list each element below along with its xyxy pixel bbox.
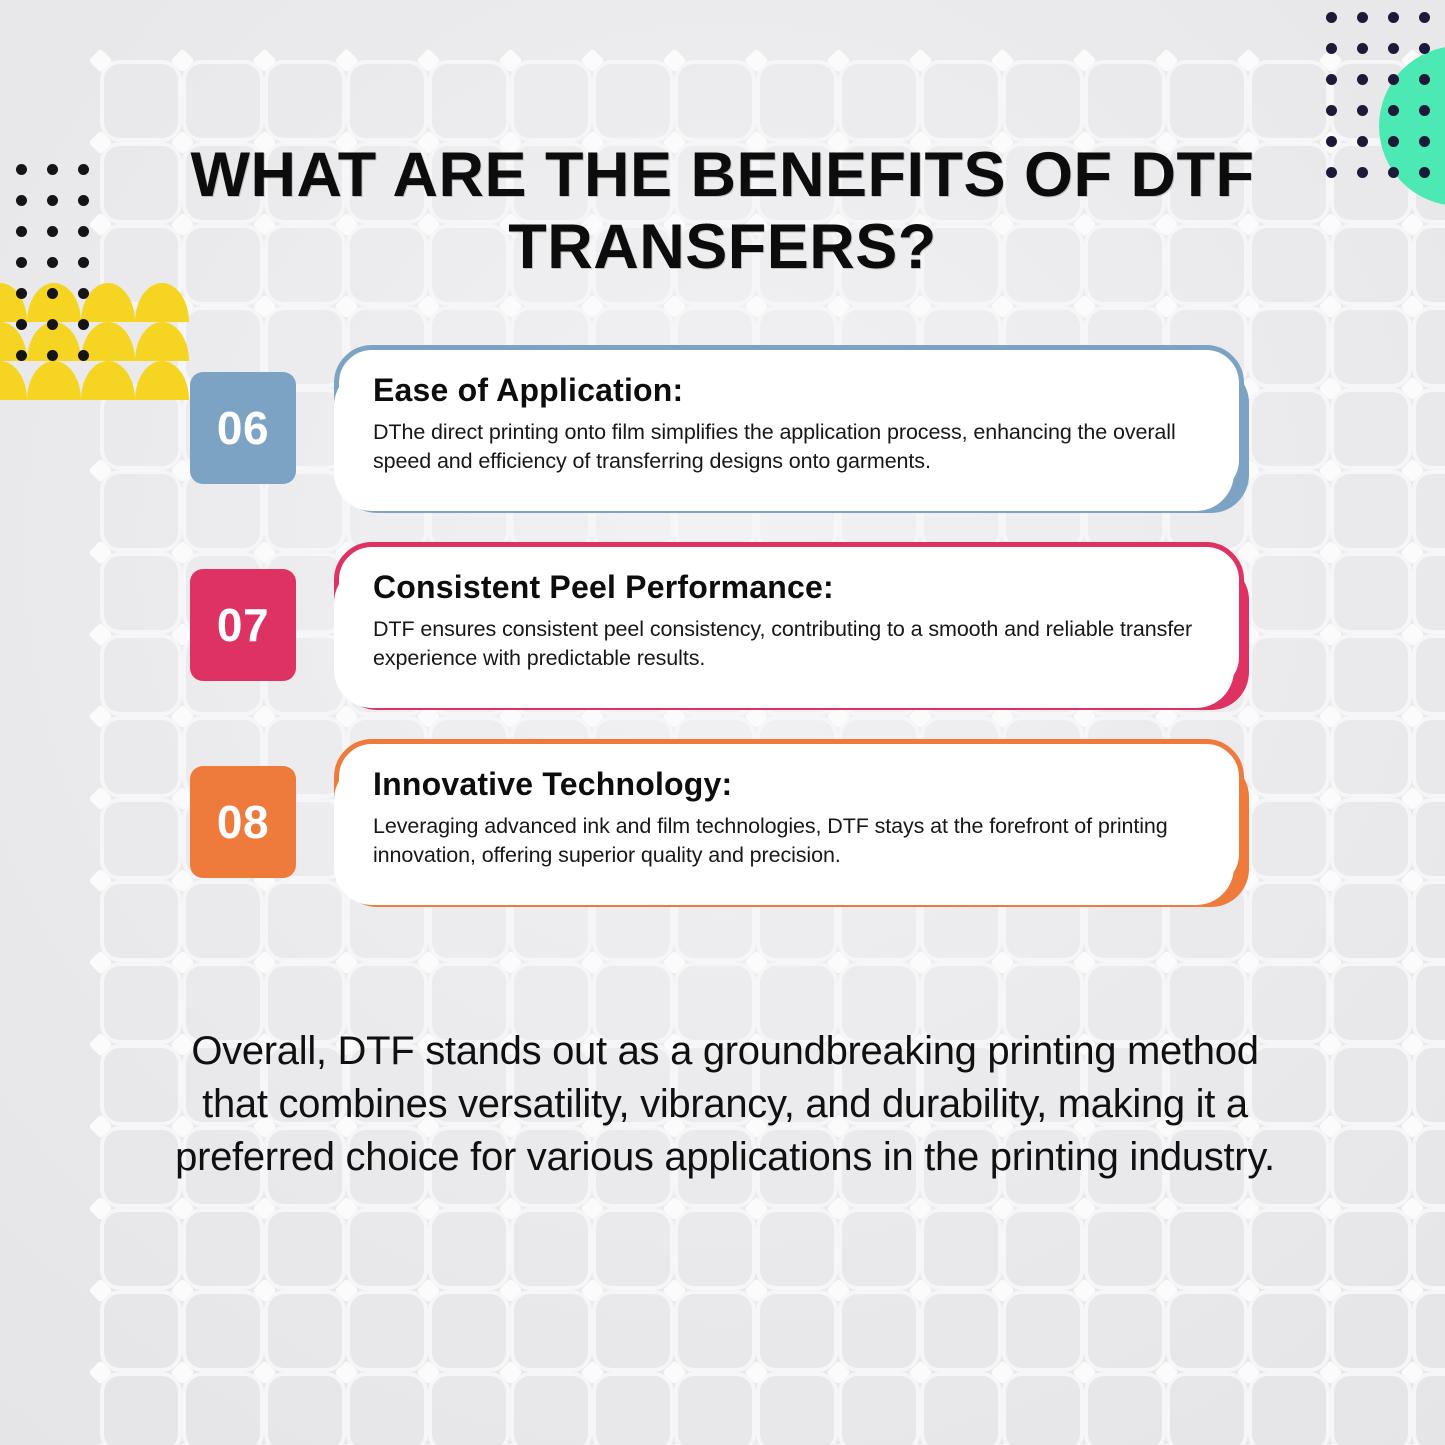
grid-cell [1416, 146, 1445, 220]
grid-cell [104, 720, 178, 794]
dot-icon [78, 257, 89, 268]
grid-cell [1334, 1130, 1408, 1204]
grid-diamond [1318, 950, 1342, 974]
grid-diamond [88, 622, 112, 646]
grid-cell [1252, 64, 1326, 138]
dot-icon [1357, 74, 1368, 85]
dot-icon [78, 195, 89, 206]
dot-icon [1326, 105, 1337, 116]
grid-diamond [1318, 786, 1342, 810]
grid-diamond [1236, 1278, 1260, 1302]
grid-diamond [88, 1032, 112, 1056]
grid-cell [104, 474, 178, 548]
card-bubble: Consistent Peel Performance:DTF ensures … [334, 542, 1244, 695]
dot-icon [16, 319, 27, 330]
grid-diamond [1400, 130, 1424, 154]
grid-diamond [170, 1278, 194, 1302]
grid-diamond [744, 294, 768, 318]
grid-cell [1416, 392, 1445, 466]
grid-diamond [1400, 1360, 1424, 1384]
grid-diamond [1318, 376, 1342, 400]
grid-cell [432, 64, 506, 138]
grid-diamond [88, 212, 112, 236]
dot-icon [1326, 74, 1337, 85]
grid-cell [104, 1294, 178, 1368]
grid-diamond [744, 950, 768, 974]
grid-diamond [334, 1196, 358, 1220]
grid-diamond [252, 48, 276, 72]
grid-cell [104, 392, 178, 466]
dot-icon [16, 164, 27, 175]
grid-diamond [170, 1196, 194, 1220]
grid-cell [924, 1294, 998, 1368]
grid-cell [1088, 1376, 1162, 1445]
grid-diamond [990, 48, 1014, 72]
grid-cell [432, 1294, 506, 1368]
dot-icon [1326, 136, 1337, 147]
grid-cell [432, 1212, 506, 1286]
grid-cell [924, 1376, 998, 1445]
grid-diamond [88, 458, 112, 482]
grid-diamond [88, 704, 112, 728]
dot-icon [16, 350, 27, 361]
dot-icon [47, 257, 58, 268]
grid-cell [842, 1376, 916, 1445]
grid-cell [760, 1376, 834, 1445]
infographic-slide: WHAT ARE THE BENEFITS OF DTF TRANSFERS? … [0, 0, 1445, 1445]
grid-diamond [1318, 1196, 1342, 1220]
grid-diamond [1400, 868, 1424, 892]
grid-cell [678, 64, 752, 138]
grid-diamond [334, 950, 358, 974]
grid-diamond [498, 48, 522, 72]
grid-cell [514, 1376, 588, 1445]
grid-cell [1334, 966, 1408, 1040]
grid-diamond [88, 1114, 112, 1138]
grid-cell [1334, 64, 1408, 138]
grid-cell [842, 1294, 916, 1368]
dot-icon [1357, 105, 1368, 116]
grid-diamond [580, 1278, 604, 1302]
grid-cell [514, 1212, 588, 1286]
dot-icon [16, 195, 27, 206]
dot-icon [1326, 12, 1337, 23]
grid-diamond [826, 294, 850, 318]
grid-cell [104, 802, 178, 876]
grid-diamond [252, 950, 276, 974]
grid-diamond [1236, 1360, 1260, 1384]
grid-cell [678, 1212, 752, 1286]
card-body: DTF ensures consistent peel consistency,… [373, 615, 1205, 674]
dot-icon [47, 164, 58, 175]
grid-cell [1416, 638, 1445, 712]
grid-cell [104, 310, 178, 384]
grid-cell [268, 1294, 342, 1368]
grid-diamond [744, 1360, 768, 1384]
grid-diamond [252, 294, 276, 318]
grid-diamond [990, 1278, 1014, 1302]
card-number-badge: 07 [190, 569, 296, 681]
grid-diamond [1072, 1278, 1096, 1302]
grid-diamond [1154, 1278, 1178, 1302]
grid-cell [1170, 64, 1244, 138]
dot-icon [78, 350, 89, 361]
grid-diamond [252, 1360, 276, 1384]
grid-diamond [1400, 1032, 1424, 1056]
grid-cell [186, 1376, 260, 1445]
grid-diamond [1400, 48, 1424, 72]
card-body: Leveraging advanced ink and film technol… [373, 812, 1205, 871]
grid-cell [1252, 1294, 1326, 1368]
grid-diamond [88, 1196, 112, 1220]
arch-icon [27, 361, 81, 400]
grid-diamond [1154, 950, 1178, 974]
dot-icon [16, 288, 27, 299]
grid-cell [1416, 1212, 1445, 1286]
dot-icon [1388, 136, 1399, 147]
dot-icon [1419, 167, 1430, 178]
dot-icon [78, 226, 89, 237]
grid-diamond [252, 1278, 276, 1302]
grid-cell [350, 1376, 424, 1445]
grid-diamond [662, 1360, 686, 1384]
grid-diamond [334, 1360, 358, 1384]
grid-diamond [252, 1196, 276, 1220]
arch-row [0, 283, 152, 322]
grid-cell [1334, 1294, 1408, 1368]
grid-cell [1334, 802, 1408, 876]
grid-cell [186, 1212, 260, 1286]
grid-diamond [170, 48, 194, 72]
grid-diamond [416, 1360, 440, 1384]
grid-cell [104, 1376, 178, 1445]
grid-cell [1416, 1048, 1445, 1122]
grid-diamond [1400, 376, 1424, 400]
grid-cell [1334, 392, 1408, 466]
dot-icon [1388, 74, 1399, 85]
grid-cell [596, 64, 670, 138]
grid-diamond [416, 294, 440, 318]
arch-icon [81, 322, 135, 361]
grid-cell [514, 1294, 588, 1368]
grid-diamond [908, 1278, 932, 1302]
grid-diamond [1318, 1114, 1342, 1138]
arch-icon [27, 283, 81, 322]
dot-icon [1357, 12, 1368, 23]
grid-cell [186, 64, 260, 138]
grid-cell [1334, 1376, 1408, 1445]
grid-diamond [908, 294, 932, 318]
grid-cell [1416, 1376, 1445, 1445]
card-title: Innovative Technology: [373, 766, 1205, 803]
grid-cell [432, 1376, 506, 1445]
grid-cell [104, 966, 178, 1040]
grid-cell [1416, 310, 1445, 384]
grid-diamond [1318, 704, 1342, 728]
grid-diamond [88, 294, 112, 318]
grid-cell [1416, 720, 1445, 794]
closing-paragraph: Overall, DTF stands out as a groundbreak… [170, 1025, 1280, 1183]
grid-cell [1416, 474, 1445, 548]
grid-diamond [170, 950, 194, 974]
dot-icon [1326, 43, 1337, 54]
grid-diamond [1400, 540, 1424, 564]
arch-icon [0, 283, 27, 322]
grid-diamond [580, 294, 604, 318]
grid-cell [596, 1212, 670, 1286]
dot-icon [47, 226, 58, 237]
dot-icon [1357, 167, 1368, 178]
grid-diamond [170, 1360, 194, 1384]
grid-diamond [908, 1360, 932, 1384]
dot-icon [78, 319, 89, 330]
grid-cell [350, 1212, 424, 1286]
grid-diamond [1400, 1114, 1424, 1138]
dot-icon [1419, 12, 1430, 23]
arch-icon [135, 322, 189, 361]
grid-diamond [1154, 1360, 1178, 1384]
grid-diamond [662, 1196, 686, 1220]
grid-diamond [88, 1278, 112, 1302]
grid-diamond [88, 786, 112, 810]
grid-cell [514, 64, 588, 138]
dot-icon [1419, 136, 1430, 147]
arch-row [0, 322, 152, 361]
grid-cell [268, 1376, 342, 1445]
card-body: DThe direct printing onto film simplifie… [373, 418, 1205, 477]
grid-cell [268, 64, 342, 138]
grid-cell [842, 1212, 916, 1286]
dot-icon [78, 164, 89, 175]
grid-diamond [744, 1278, 768, 1302]
grid-cell [1334, 638, 1408, 712]
grid-diamond [826, 1196, 850, 1220]
grid-cell [1006, 64, 1080, 138]
dot-icon [1419, 74, 1430, 85]
dot-icon [1388, 167, 1399, 178]
grid-cell [1088, 1212, 1162, 1286]
dot-icon [1326, 167, 1337, 178]
grid-cell [1006, 1294, 1080, 1368]
grid-diamond [498, 950, 522, 974]
grid-cell [1334, 884, 1408, 958]
grid-diamond [1154, 294, 1178, 318]
grid-diamond [416, 48, 440, 72]
arch-icon [0, 322, 27, 361]
arch-icon [0, 361, 27, 400]
grid-cell [1252, 1212, 1326, 1286]
grid-diamond [662, 48, 686, 72]
dot-icon [1357, 136, 1368, 147]
grid-diamond [580, 1196, 604, 1220]
grid-cell [678, 1376, 752, 1445]
grid-cell [1170, 1212, 1244, 1286]
grid-cell [760, 64, 834, 138]
grid-diamond [88, 540, 112, 564]
grid-diamond [170, 294, 194, 318]
grid-diamond [1400, 1196, 1424, 1220]
card-title: Consistent Peel Performance: [373, 569, 1205, 606]
grid-diamond [1236, 950, 1260, 974]
grid-diamond [1236, 48, 1260, 72]
grid-cell [1334, 310, 1408, 384]
benefit-card: 07Consistent Peel Performance:DTF ensure… [190, 542, 1265, 712]
grid-cell [104, 638, 178, 712]
arch-icon [27, 322, 81, 361]
grid-diamond [1154, 1196, 1178, 1220]
grid-diamond [826, 1278, 850, 1302]
grid-diamond [498, 1196, 522, 1220]
grid-diamond [1318, 1032, 1342, 1056]
grid-diamond [88, 376, 112, 400]
grid-diamond [826, 950, 850, 974]
dot-icon [47, 319, 58, 330]
grid-cell [268, 1212, 342, 1286]
grid-diamond [498, 1360, 522, 1384]
grid-cell [1334, 228, 1408, 302]
card-bubble: Ease of Application:DThe direct printing… [334, 345, 1244, 498]
grid-diamond [908, 950, 932, 974]
right-dot-pattern [1322, 10, 1445, 180]
grid-diamond [88, 1360, 112, 1384]
grid-diamond [990, 1196, 1014, 1220]
grid-diamond [1400, 294, 1424, 318]
grid-diamond [1400, 212, 1424, 236]
grid-diamond [498, 294, 522, 318]
grid-diamond [744, 1196, 768, 1220]
dot-icon [47, 350, 58, 361]
grid-diamond [88, 868, 112, 892]
grid-cell [1170, 1376, 1244, 1445]
grid-diamond [1072, 1360, 1096, 1384]
grid-cell [596, 1376, 670, 1445]
grid-diamond [1318, 294, 1342, 318]
grid-cell [1334, 474, 1408, 548]
left-dot-pattern [10, 160, 110, 375]
grid-diamond [1072, 1196, 1096, 1220]
grid-diamond [1318, 48, 1342, 72]
grid-diamond [1318, 868, 1342, 892]
dot-icon [16, 257, 27, 268]
card-title: Ease of Application: [373, 372, 1205, 409]
grid-diamond [416, 1278, 440, 1302]
grid-diamond [580, 1360, 604, 1384]
grid-diamond [662, 950, 686, 974]
grid-cell [760, 1212, 834, 1286]
dot-icon [47, 288, 58, 299]
grid-cell [596, 1294, 670, 1368]
grid-diamond [826, 1360, 850, 1384]
grid-diamond [1318, 1278, 1342, 1302]
grid-cell [1334, 1212, 1408, 1286]
grid-cell [1416, 1294, 1445, 1368]
grid-diamond [1072, 950, 1096, 974]
yellow-arches-decoration [0, 283, 152, 401]
dot-icon [1388, 43, 1399, 54]
grid-cell [104, 556, 178, 630]
grid-cell [1334, 1048, 1408, 1122]
dot-icon [1419, 105, 1430, 116]
benefit-card: 06Ease of Application:DThe direct printi… [190, 345, 1265, 515]
grid-diamond [826, 48, 850, 72]
grid-diamond [416, 950, 440, 974]
grid-cell [842, 64, 916, 138]
grid-cell [1006, 1376, 1080, 1445]
grid-cell [350, 1294, 424, 1368]
grid-diamond [990, 950, 1014, 974]
grid-diamond [1400, 622, 1424, 646]
grid-cell [104, 1048, 178, 1122]
grid-cell [760, 1294, 834, 1368]
dot-icon [47, 195, 58, 206]
grid-cell [350, 64, 424, 138]
arch-icon [81, 283, 135, 322]
grid-cell [1416, 228, 1445, 302]
grid-diamond [1318, 540, 1342, 564]
card-number-badge: 08 [190, 766, 296, 878]
dot-icon [1388, 105, 1399, 116]
grid-diamond [334, 1278, 358, 1302]
arch-row [0, 361, 152, 400]
grid-cell [104, 64, 178, 138]
grid-cell [1416, 556, 1445, 630]
grid-cell [1170, 1294, 1244, 1368]
grid-cell [678, 1294, 752, 1368]
grid-diamond [1400, 950, 1424, 974]
benefit-card: 08Innovative Technology:Leveraging advan… [190, 739, 1265, 909]
grid-diamond [1318, 1360, 1342, 1384]
grid-cell [1252, 1376, 1326, 1445]
card-number-badge: 06 [190, 372, 296, 484]
grid-cell [1416, 884, 1445, 958]
grid-diamond [498, 1278, 522, 1302]
grid-diamond [908, 48, 932, 72]
grid-diamond [334, 294, 358, 318]
grid-cell [1006, 1212, 1080, 1286]
grid-diamond [1154, 48, 1178, 72]
grid-cell [924, 64, 998, 138]
grid-diamond [990, 1360, 1014, 1384]
grid-diamond [908, 1196, 932, 1220]
arch-icon [135, 283, 189, 322]
grid-diamond [416, 1196, 440, 1220]
grid-diamond [334, 48, 358, 72]
grid-diamond [88, 48, 112, 72]
grid-cell [104, 1130, 178, 1204]
grid-diamond [88, 950, 112, 974]
dot-icon [1388, 12, 1399, 23]
grid-cell [1334, 720, 1408, 794]
grid-diamond [744, 48, 768, 72]
grid-cell [1334, 556, 1408, 630]
grid-diamond [1236, 294, 1260, 318]
grid-diamond [1400, 786, 1424, 810]
arch-icon [81, 361, 135, 400]
grid-diamond [1400, 704, 1424, 728]
grid-diamond [1400, 458, 1424, 482]
grid-cell [1416, 64, 1445, 138]
grid-cell [1088, 1294, 1162, 1368]
grid-cell [1088, 64, 1162, 138]
grid-diamond [662, 1278, 686, 1302]
grid-diamond [1318, 212, 1342, 236]
grid-cell [186, 1294, 260, 1368]
grid-cell [1416, 966, 1445, 1040]
grid-diamond [1318, 458, 1342, 482]
grid-diamond [662, 294, 686, 318]
page-title: WHAT ARE THE BENEFITS OF DTF TRANSFERS? [150, 140, 1295, 284]
grid-diamond [1236, 1196, 1260, 1220]
